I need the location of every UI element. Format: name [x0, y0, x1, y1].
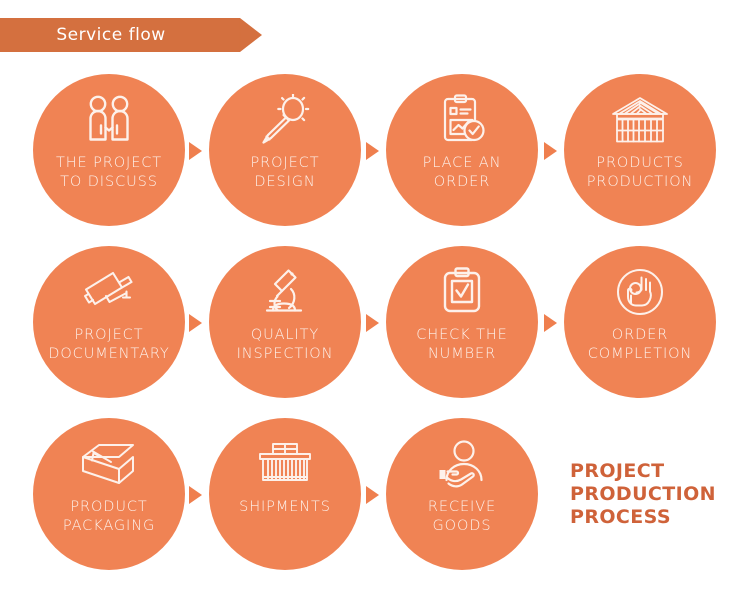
step-label-line2: DESIGN	[211, 173, 359, 192]
step-place-an-order[interactable]: PLACE AN ORDER	[386, 74, 538, 226]
step-label: ORDER COMPLETION	[566, 326, 714, 364]
security-camera-icon	[78, 264, 140, 320]
step-products-production[interactable]: PRODUCTS PRODUCTION	[564, 74, 716, 226]
flow-arrow-icon	[544, 142, 557, 160]
step-receive-goods[interactable]: RECEIVE GOODS	[386, 418, 538, 570]
flow-arrow-icon	[366, 142, 379, 160]
flow-arrow-icon	[189, 142, 202, 160]
step-label: PRODUCT PACKAGING	[35, 498, 183, 536]
step-label-line2: ORDER	[388, 173, 536, 192]
step-label-line1: PLACE AN	[423, 155, 502, 171]
factory-building-icon	[609, 92, 671, 148]
closing-line-1: PROJECT	[570, 460, 716, 483]
step-label: QUALITY INSPECTION	[211, 326, 359, 364]
step-label-line2: NUMBER	[388, 345, 536, 364]
flow-arrow-icon	[366, 314, 379, 332]
step-shipments[interactable]: SHIPMENTS	[209, 418, 361, 570]
step-label-line2: COMPLETION	[566, 345, 714, 364]
flow-arrow-icon	[544, 314, 557, 332]
step-label: PROJECT DESIGN	[211, 154, 359, 192]
flow-arrow-icon	[189, 314, 202, 332]
service-flow-banner: Service flow	[0, 18, 262, 52]
step-label-line2: PRODUCTION	[566, 173, 714, 192]
ok-hand-icon	[609, 264, 671, 320]
step-label: CHECK THE NUMBER	[388, 326, 536, 364]
step-label: RECEIVE GOODS	[388, 498, 536, 536]
shipping-container-icon	[254, 436, 316, 492]
step-label-line1: ORDER	[612, 327, 668, 343]
step-label-line1: RECEIVE	[428, 499, 496, 515]
package-box-icon	[78, 436, 140, 492]
step-label-line1: PRODUCTS	[596, 155, 683, 171]
closing-title: PROJECT PRODUCTION PROCESS	[570, 460, 716, 529]
microscope-icon	[254, 264, 316, 320]
step-label-line2: GOODS	[388, 517, 536, 536]
closing-line-3: PROCESS	[570, 506, 716, 529]
step-label-line1: CHECK THE	[416, 327, 507, 343]
step-label-line2: INSPECTION	[211, 345, 359, 364]
flow-arrow-icon	[189, 486, 202, 504]
step-label: PROJECT DOCUMENTARY	[35, 326, 183, 364]
step-label-line1: PROJECT	[251, 155, 320, 171]
closing-line-2: PRODUCTION	[570, 483, 716, 506]
step-label: THE PROJECT TO DISCUSS	[35, 154, 183, 192]
step-label-line1: PRODUCT	[70, 499, 147, 515]
step-label-line1: THE PROJECT	[56, 155, 162, 171]
step-order-completion[interactable]: ORDER COMPLETION	[564, 246, 716, 398]
clipboard-chart-check-icon	[431, 92, 493, 148]
clipboard-check-icon	[431, 264, 493, 320]
pencil-idea-icon	[254, 92, 316, 148]
step-label-line2: PACKAGING	[35, 517, 183, 536]
step-label-line2: TO DISCUSS	[35, 173, 183, 192]
step-label: PRODUCTS PRODUCTION	[566, 154, 714, 192]
step-label-line1: QUALITY	[251, 327, 319, 343]
step-label-line2: DOCUMENTARY	[35, 345, 183, 364]
flow-row-1: THE PROJECT TO DISCUSS PROJECT DESIGN	[0, 68, 750, 238]
step-project-design[interactable]: PROJECT DESIGN	[209, 74, 361, 226]
step-project-documentary[interactable]: PROJECT DOCUMENTARY	[33, 246, 185, 398]
step-label-line1: SHIPMENTS	[239, 499, 331, 515]
flow-arrow-icon	[366, 486, 379, 504]
banner-label: Service flow	[0, 18, 222, 52]
receive-goods-hand-icon	[431, 436, 493, 492]
step-product-packaging[interactable]: PRODUCT PACKAGING	[33, 418, 185, 570]
step-the-project-to-discuss[interactable]: THE PROJECT TO DISCUSS	[33, 74, 185, 226]
step-label-line1: PROJECT	[75, 327, 144, 343]
step-check-the-number[interactable]: CHECK THE NUMBER	[386, 246, 538, 398]
flow-row-2: PROJECT DOCUMENTARY QUALITY	[0, 240, 750, 410]
step-label: PLACE AN ORDER	[388, 154, 536, 192]
handshake-people-icon	[78, 92, 140, 148]
step-quality-inspection[interactable]: QUALITY INSPECTION	[209, 246, 361, 398]
step-label: SHIPMENTS	[211, 498, 359, 517]
